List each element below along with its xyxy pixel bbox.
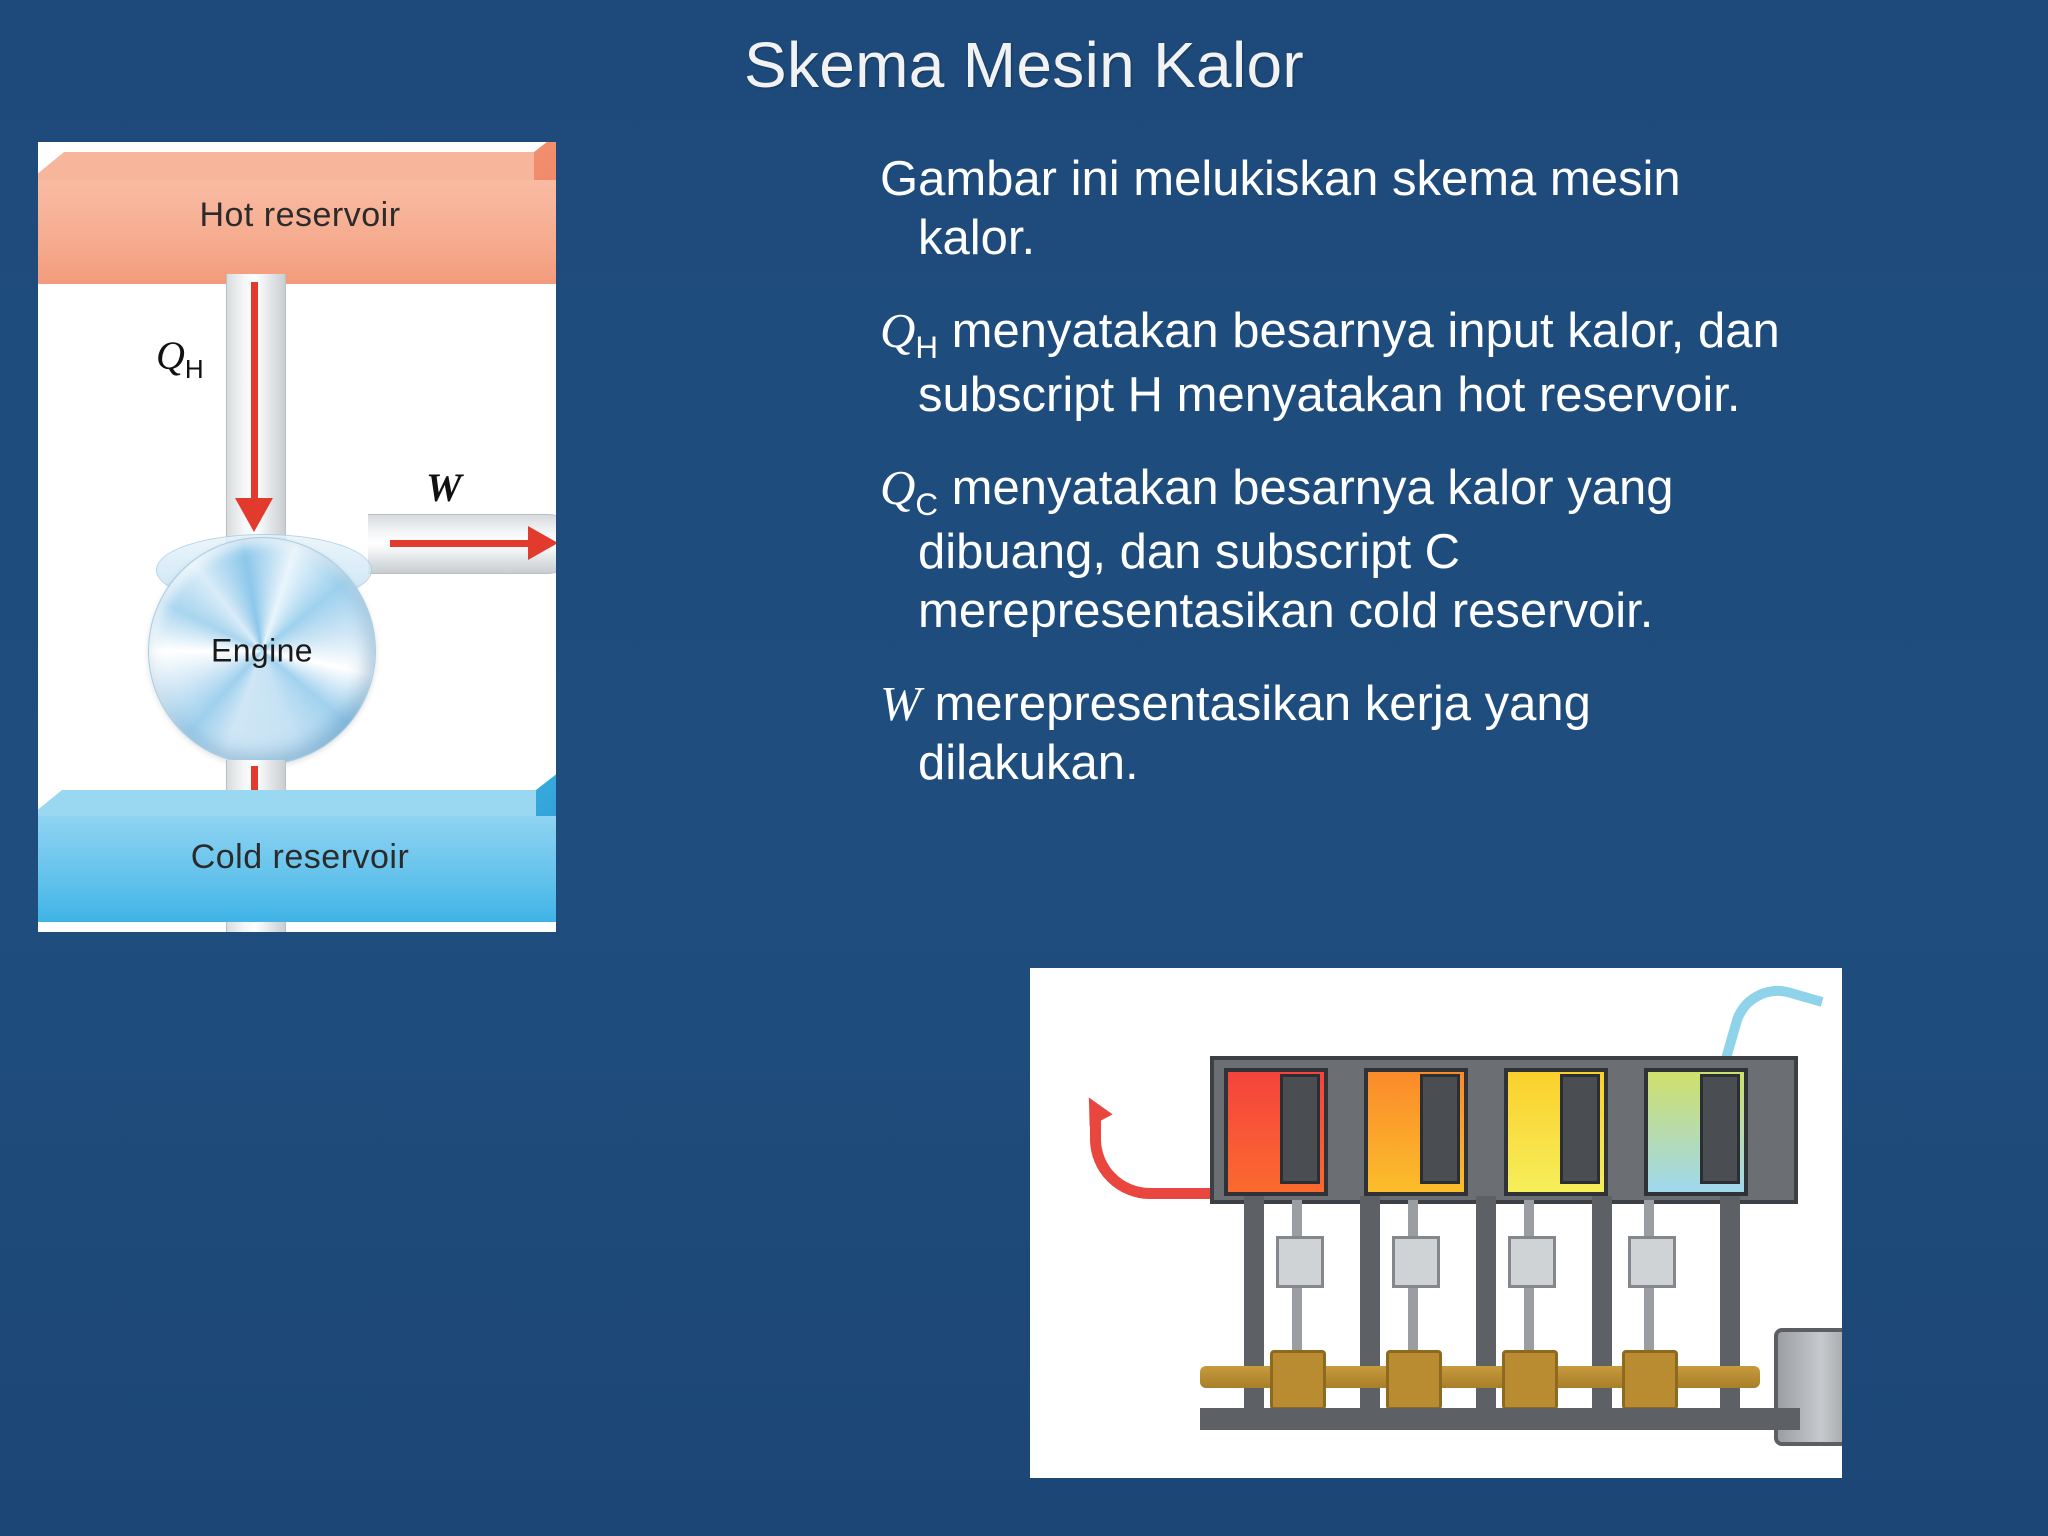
crosshead-three: [1508, 1236, 1556, 1288]
engine-base-rail: [1200, 1408, 1800, 1430]
qh-inline-subscript: H: [915, 329, 938, 364]
w-arrow-head: [528, 526, 556, 560]
slide-canvas: Skema Mesin Kalor Hot reservoir QH W Eng…: [0, 0, 2048, 1536]
paragraph-qc-text: menyatakan besarnya kalor yang dibuang, …: [918, 461, 1673, 638]
piston-two: [1420, 1074, 1460, 1184]
crank-pin-three: [1502, 1350, 1558, 1410]
qc-inline-symbol: Q: [880, 460, 915, 515]
qh-symbol: Q: [156, 333, 185, 378]
paragraph-qh-text: menyatakan besarnya input kalor, dan sub…: [918, 304, 1780, 422]
piston-three: [1560, 1074, 1600, 1184]
crank-pin-one: [1270, 1350, 1326, 1410]
w-arrow-shaft: [390, 540, 530, 547]
crank-pin-four: [1622, 1350, 1678, 1410]
qh-arrow-shaft: [251, 282, 258, 502]
paragraph-w: W merepresentasikan kerja yang dilakukan…: [880, 675, 1810, 793]
crosshead-two: [1392, 1236, 1440, 1288]
engine-label: Engine: [149, 633, 375, 670]
cold-reservoir-top-face: [38, 790, 556, 816]
paragraph-intro-text: Gambar ini melukiskan skema mesin kalor.: [880, 152, 1681, 265]
qh-arrow-head: [235, 498, 273, 532]
qc-inline-subscript: C: [915, 487, 938, 522]
hot-reservoir-label: Hot reservoir: [38, 196, 556, 235]
w-label: W: [426, 464, 462, 511]
heat-engine-diagram: Hot reservoir QH W Engine QC: [38, 142, 556, 932]
page-title: Skema Mesin Kalor: [0, 28, 2048, 102]
engine-disk: Engine: [148, 537, 376, 765]
paragraph-w-text: merepresentasikan kerja yang dilakukan.: [918, 677, 1591, 790]
qc-inline-subscript-wrap: C: [915, 460, 938, 515]
w-inline-symbol: W: [880, 676, 921, 731]
paragraph-qh: QH menyatakan besarnya input kalor, dan …: [880, 302, 1810, 425]
crosshead-one: [1276, 1236, 1324, 1288]
cold-reservoir-block: Cold reservoir: [38, 790, 556, 922]
qh-inline-symbol: Q: [880, 303, 915, 358]
crosshead-four: [1628, 1236, 1676, 1288]
body-text-column: Gambar ini melukiskan skema mesin kalor.…: [880, 150, 1810, 826]
piston-one: [1280, 1074, 1320, 1184]
steam-engine-illustration: [1030, 968, 1842, 1478]
piston-four: [1700, 1074, 1740, 1184]
crank-pin-two: [1386, 1350, 1442, 1410]
cold-reservoir-label: Cold reservoir: [38, 838, 556, 877]
cylinder-block: [1210, 1056, 1798, 1204]
qh-inline-subscript-wrap: H: [915, 303, 938, 358]
hot-reservoir-top-face: [38, 152, 556, 180]
qh-label: QH: [156, 332, 204, 385]
paragraph-qc: QC menyatakan besarnya kalor yang dibuan…: [880, 459, 1810, 641]
paragraph-intro: Gambar ini melukiskan skema mesin kalor.: [880, 150, 1810, 268]
qh-subscript: H: [185, 354, 204, 384]
hot-reservoir-block: Hot reservoir: [38, 152, 556, 284]
